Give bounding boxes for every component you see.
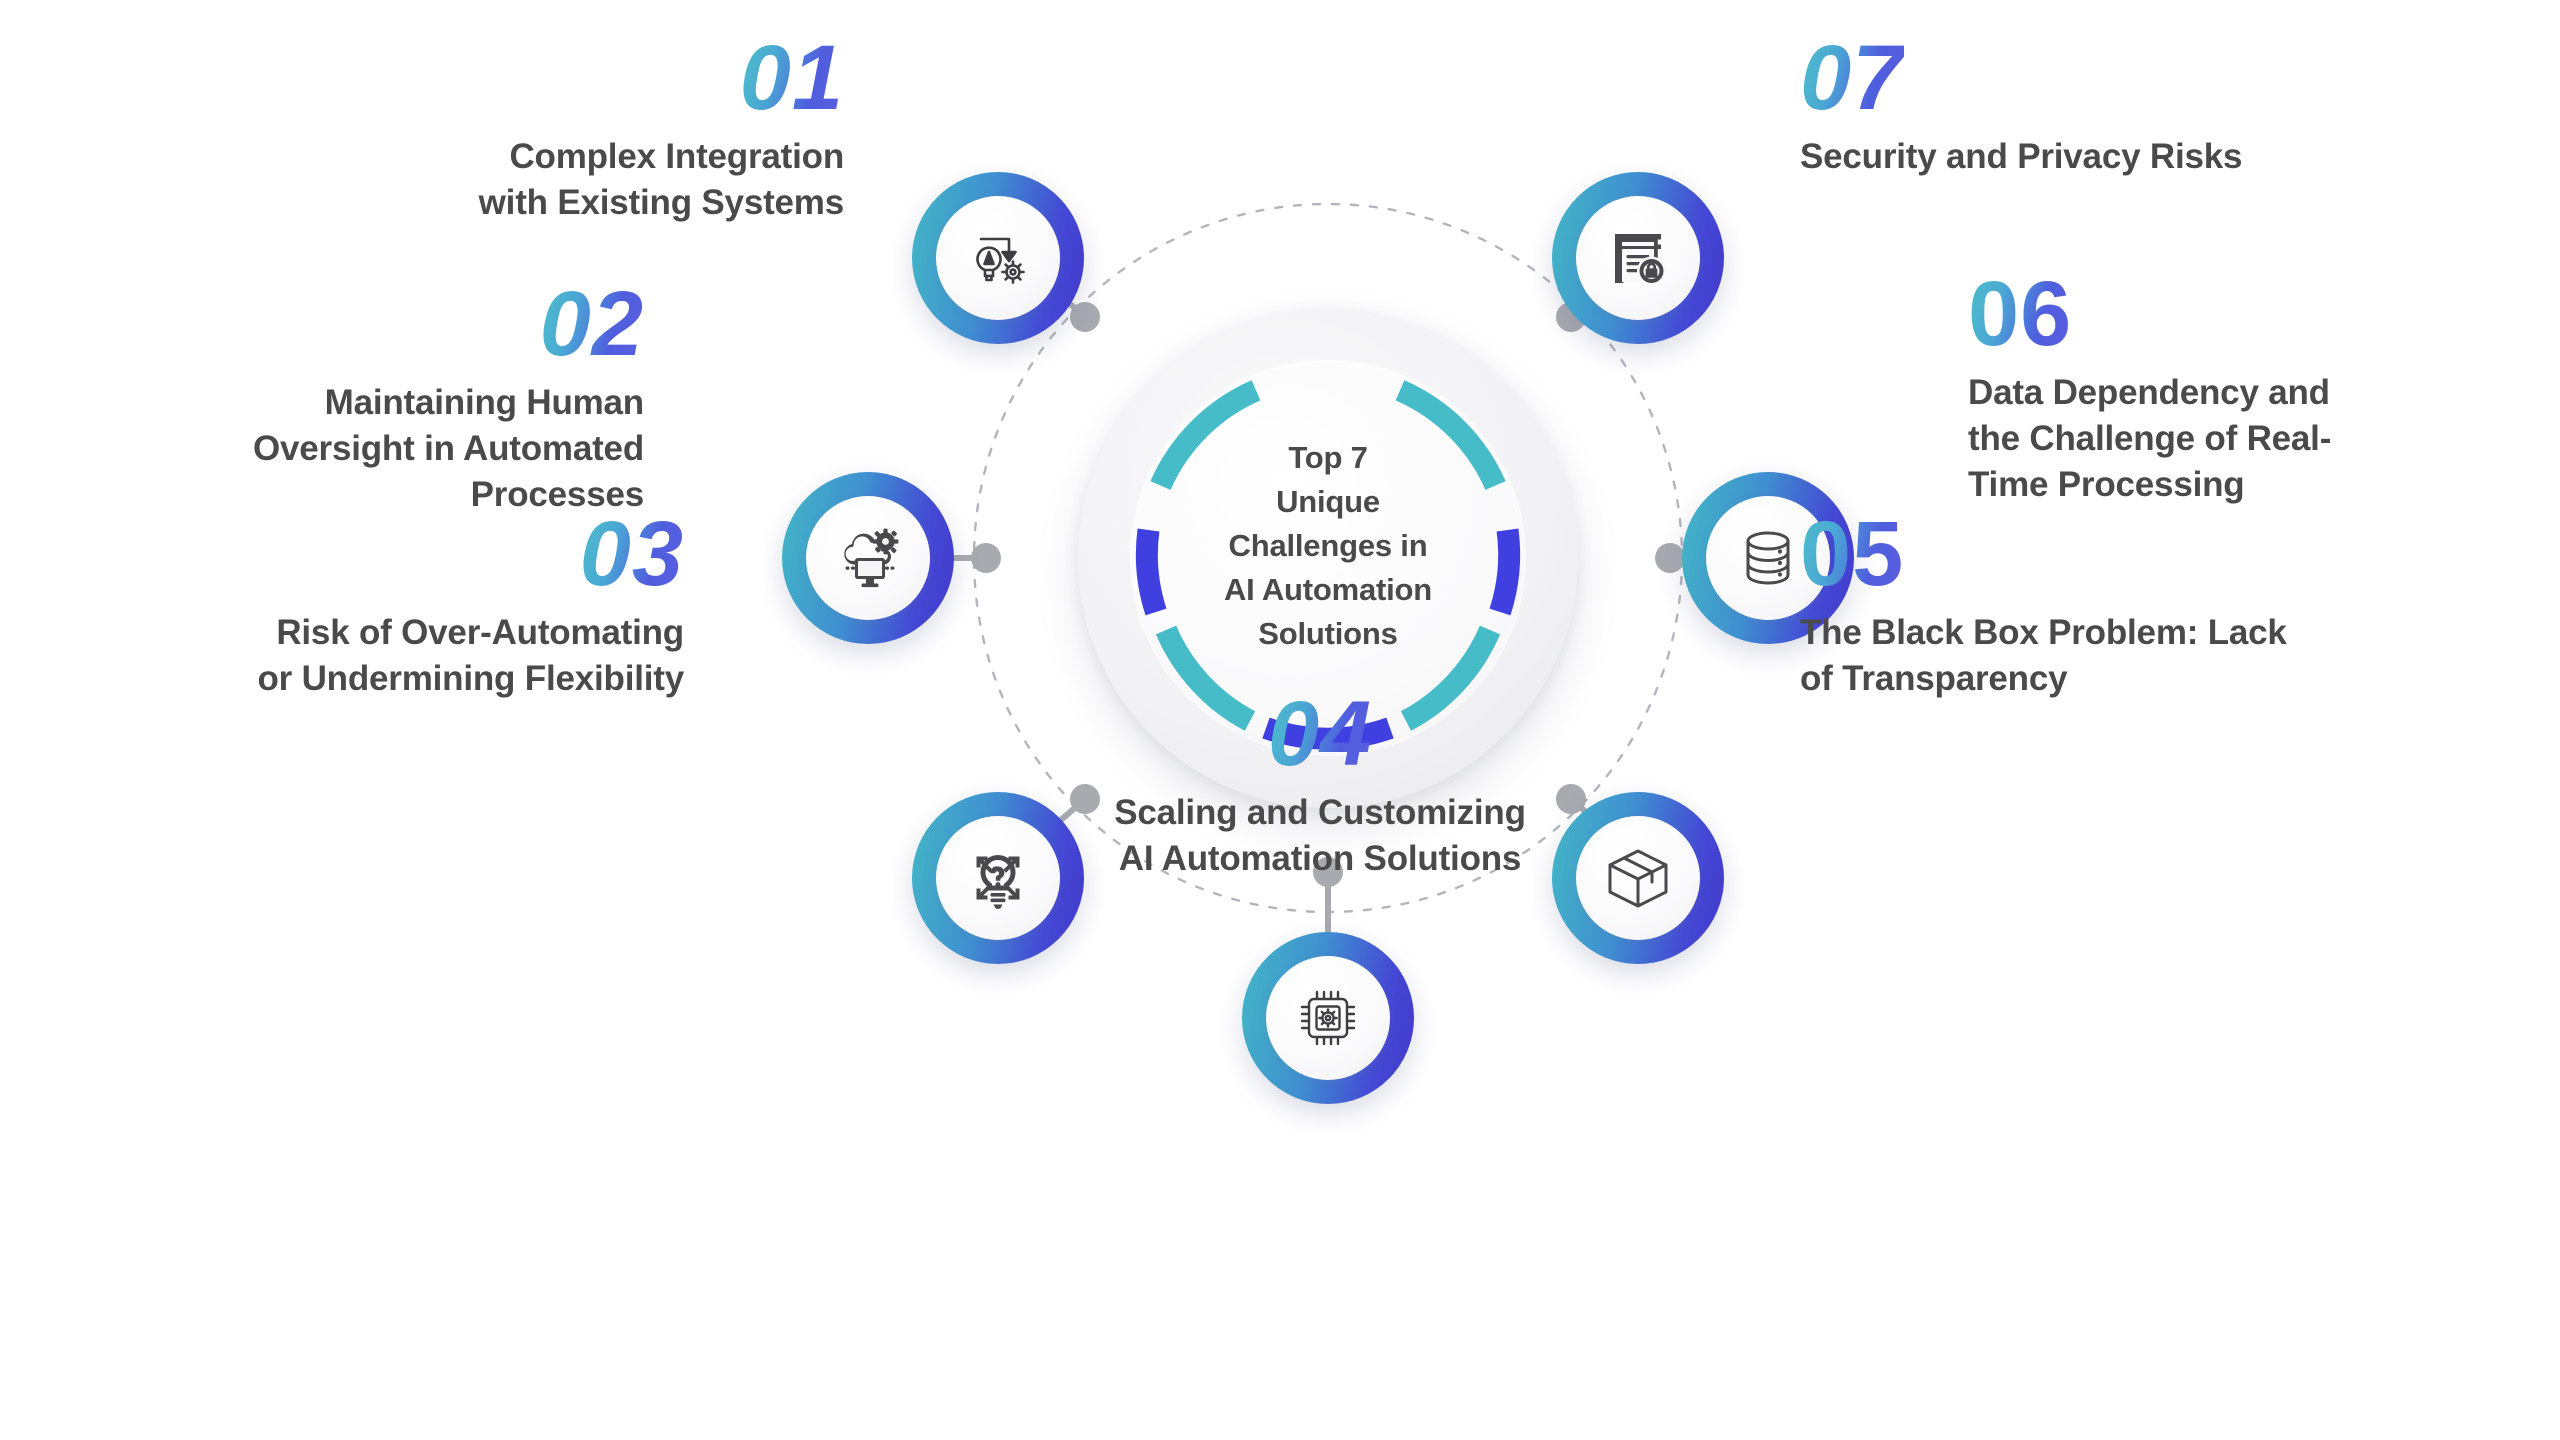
item-desc-04-line-1: Scaling and Customizing: [1000, 790, 1640, 836]
item-desc-06: Data Dependency and the Challenge of Rea…: [1968, 370, 2528, 509]
item-desc-05-line-2: of Transparency: [1800, 656, 2480, 702]
item-desc-02-line-2: Oversight in Automated: [44, 426, 644, 472]
item-desc-02: Maintaining Human Oversight in Automated…: [44, 380, 644, 519]
item-desc-06-line-2: the Challenge of Real-: [1968, 416, 2528, 462]
item-desc-01: Complex Integration with Existing System…: [244, 134, 844, 226]
node-04[interactable]: [1242, 932, 1414, 1104]
node-01-face: [936, 196, 1060, 320]
database-stack-icon: [1730, 520, 1806, 596]
hub-title-line-1: Top 7: [1170, 436, 1486, 480]
label-block-03: 03 Risk of Over-Automating or Underminin…: [84, 508, 684, 702]
item-desc-01-line-2: with Existing Systems: [244, 180, 844, 226]
label-block-01: 01 Complex Integration with Existing Sys…: [244, 32, 844, 226]
node-01[interactable]: [912, 172, 1084, 344]
item-number-04: 04: [1268, 688, 1372, 780]
item-number-07: 07: [1800, 32, 1904, 124]
hub-title-line-2: Unique: [1170, 480, 1486, 524]
document-lock-icon: [1601, 221, 1675, 295]
item-number-01: 01: [740, 32, 844, 124]
lightbulb-arrow-gear-icon: [961, 221, 1035, 295]
label-block-02: 02 Maintaining Human Oversight in Automa…: [44, 278, 644, 519]
cloud-monitor-gear-icon: [830, 520, 906, 596]
item-number-02: 02: [540, 278, 644, 370]
hub-title-line-5: Solutions: [1170, 612, 1486, 656]
label-block-05: 05 The Black Box Problem: Lack of Transp…: [1800, 508, 2480, 702]
node-04-face: [1266, 956, 1390, 1080]
item-desc-07: Security and Privacy Risks: [1800, 134, 2480, 180]
label-block-04: 04 Scaling and Customizing AI Automation…: [1000, 688, 1640, 882]
item-desc-06-line-3: Time Processing: [1968, 462, 2528, 508]
label-block-07: 07 Security and Privacy Risks: [1800, 32, 2480, 180]
item-number-06: 06: [1968, 268, 2072, 360]
cpu-chip-gear-icon: [1290, 980, 1366, 1056]
node-02-face: [806, 496, 930, 620]
item-desc-02-line-1: Maintaining Human: [44, 380, 644, 426]
item-desc-06-line-1: Data Dependency and: [1968, 370, 2528, 416]
node-07-face: [1576, 196, 1700, 320]
item-desc-03: Risk of Over-Automating or Undermining F…: [84, 610, 684, 702]
infographic-canvas: Top 7 Unique Challenges in AI Automation…: [0, 0, 2560, 1440]
item-number-03: 03: [580, 508, 684, 600]
node-07[interactable]: [1552, 172, 1724, 344]
hub-title-line-4: AI Automation: [1170, 568, 1486, 612]
node-02[interactable]: [782, 472, 954, 644]
hub-title: Top 7 Unique Challenges in AI Automation…: [1170, 436, 1486, 656]
item-desc-07-line-1: Security and Privacy Risks: [1800, 134, 2480, 180]
item-desc-03-line-1: Risk of Over-Automating: [84, 610, 684, 656]
item-desc-03-line-2: or Undermining Flexibility: [84, 656, 684, 702]
item-desc-05: The Black Box Problem: Lack of Transpare…: [1800, 610, 2480, 702]
hub-title-line-3: Challenges in: [1170, 524, 1486, 568]
item-desc-04: Scaling and Customizing AI Automation So…: [1000, 790, 1640, 882]
label-block-06: 06 Data Dependency and the Challenge of …: [1968, 268, 2528, 509]
item-desc-01-line-1: Complex Integration: [244, 134, 844, 180]
item-desc-05-line-1: The Black Box Problem: Lack: [1800, 610, 2480, 656]
item-number-05: 05: [1800, 508, 1904, 600]
item-desc-04-line-2: AI Automation Solutions: [1000, 836, 1640, 882]
